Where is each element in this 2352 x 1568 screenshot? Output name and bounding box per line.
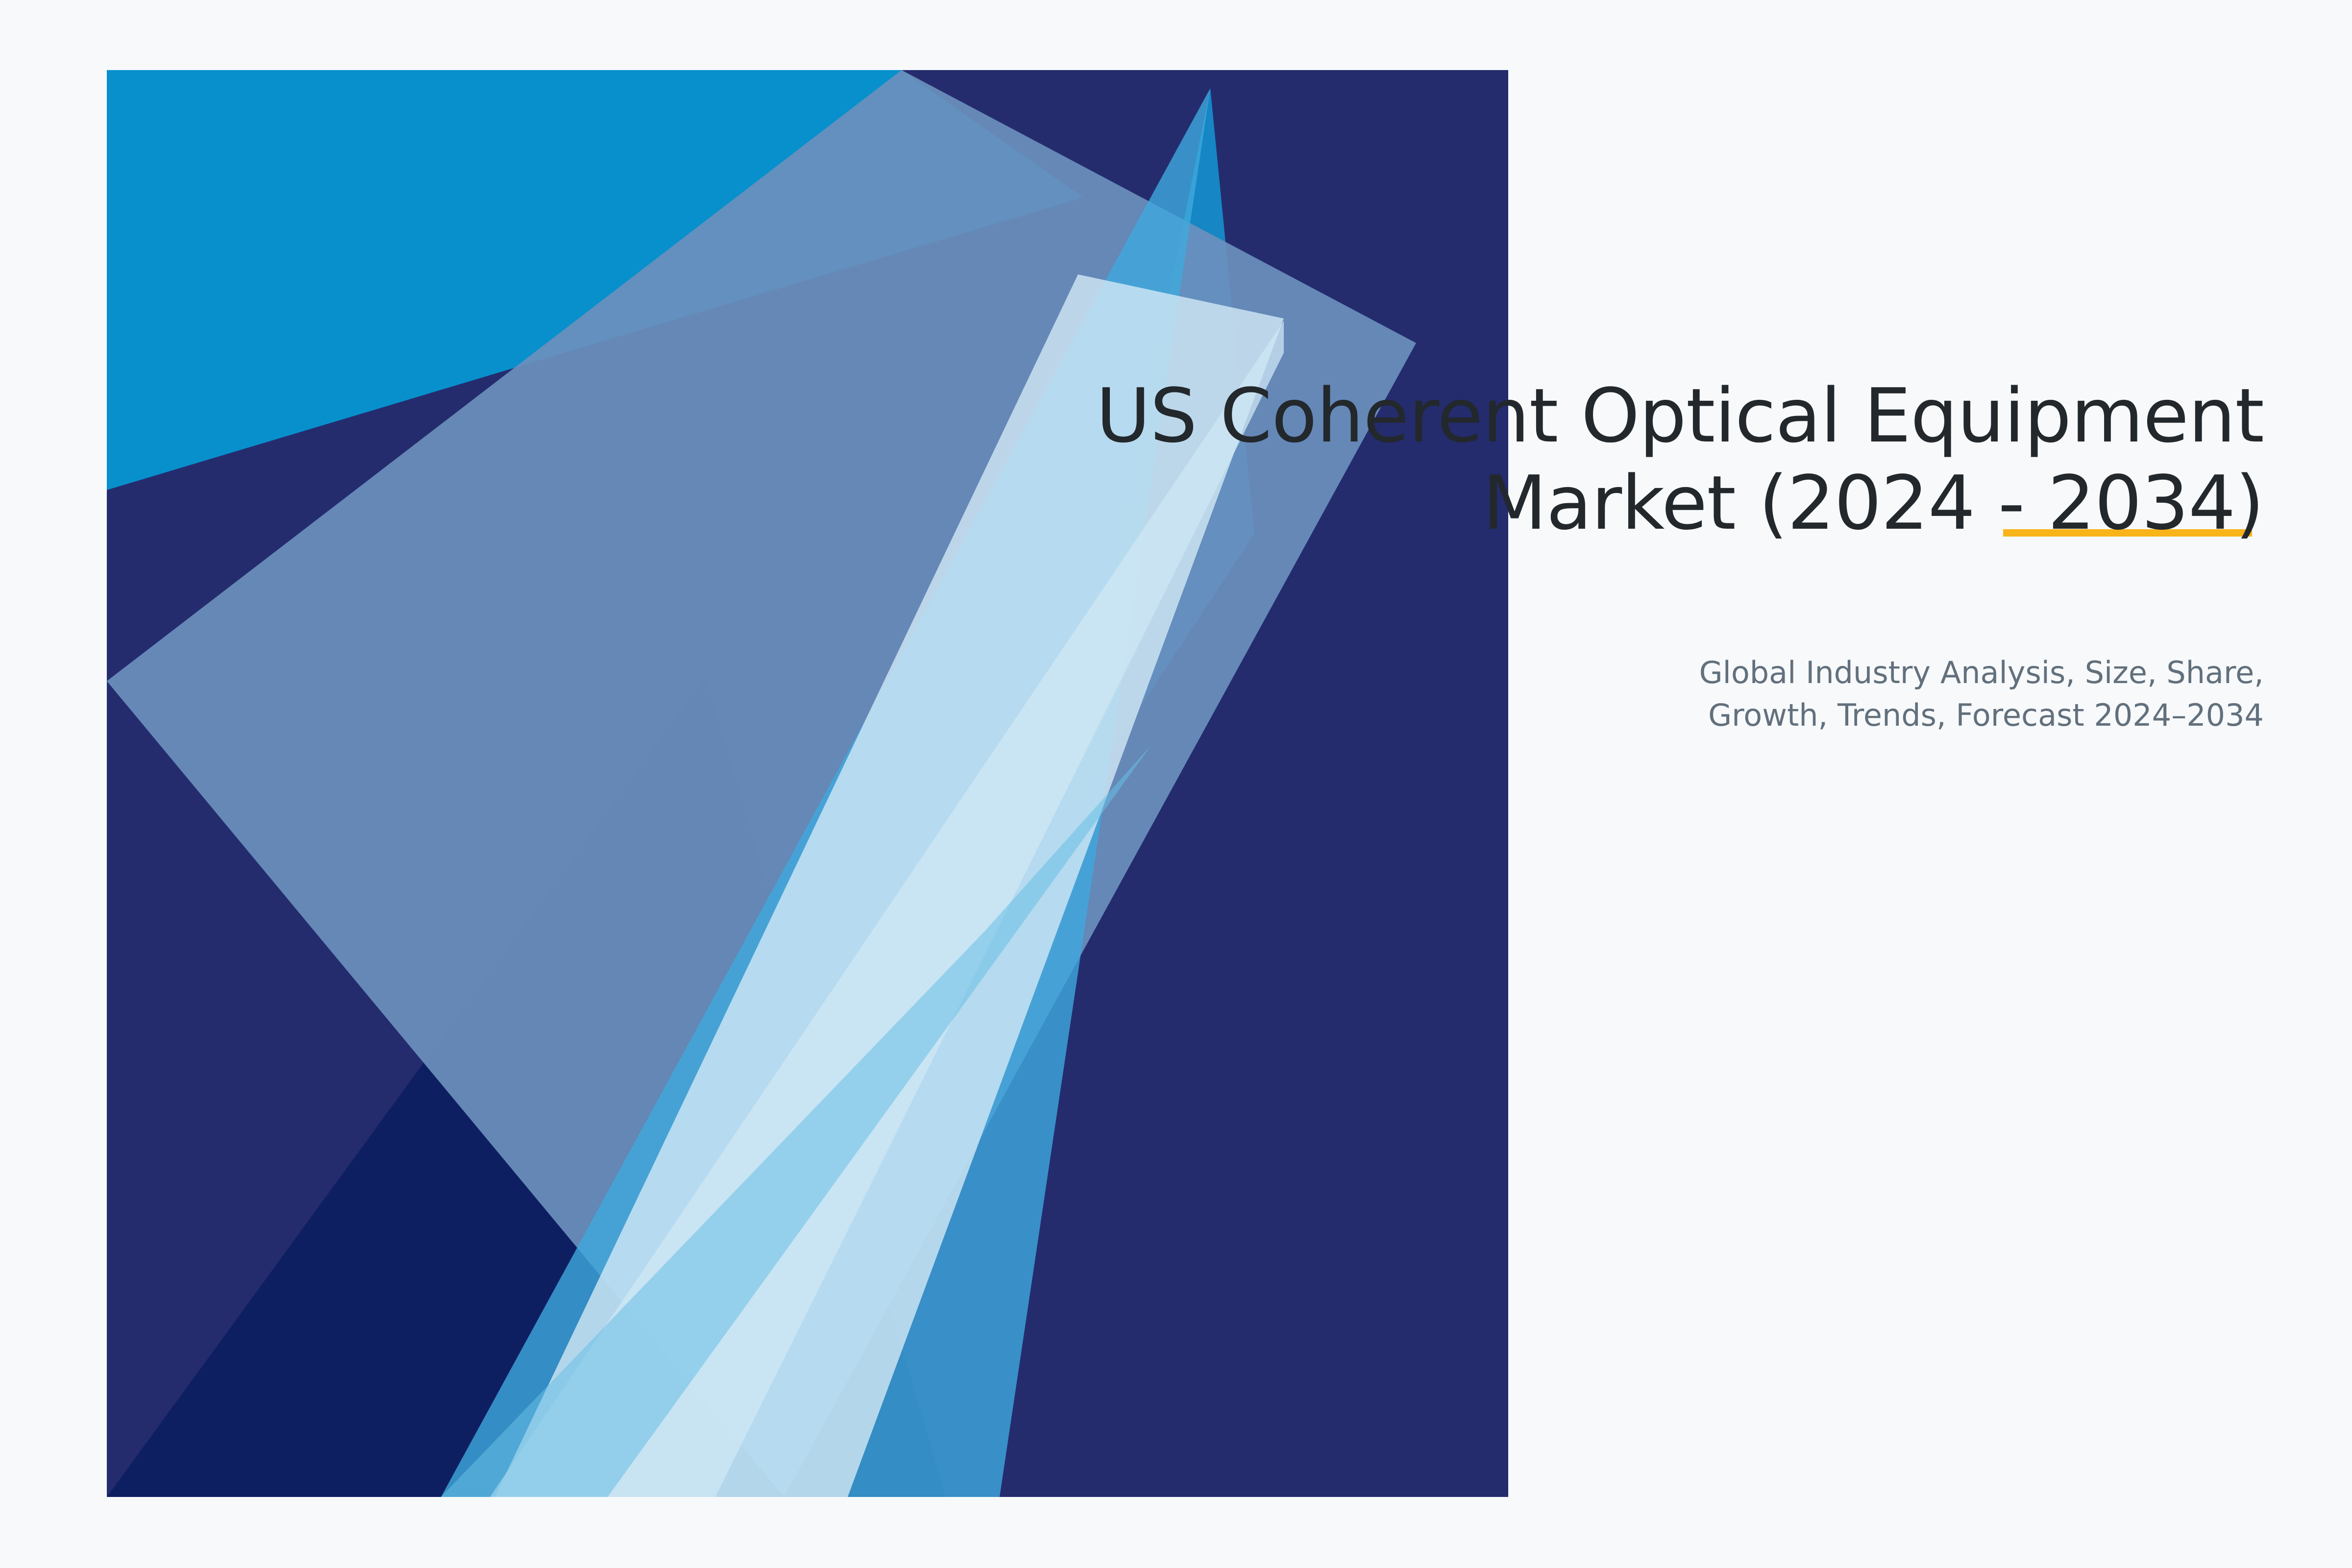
page-title: US Coherent Optical Equipment Market (20… <box>931 372 2264 547</box>
page-subtitle: Global Industry Analysis, Size, Share, G… <box>1323 652 2264 737</box>
subtitle-block: Global Industry Analysis, Size, Share, G… <box>1323 652 2264 737</box>
abstract-polygon-graphic <box>0 0 2352 1568</box>
report-cover-page: US Coherent Optical Equipment Market (20… <box>0 0 2352 1568</box>
title-block: US Coherent Optical Equipment Market (20… <box>931 372 2264 547</box>
